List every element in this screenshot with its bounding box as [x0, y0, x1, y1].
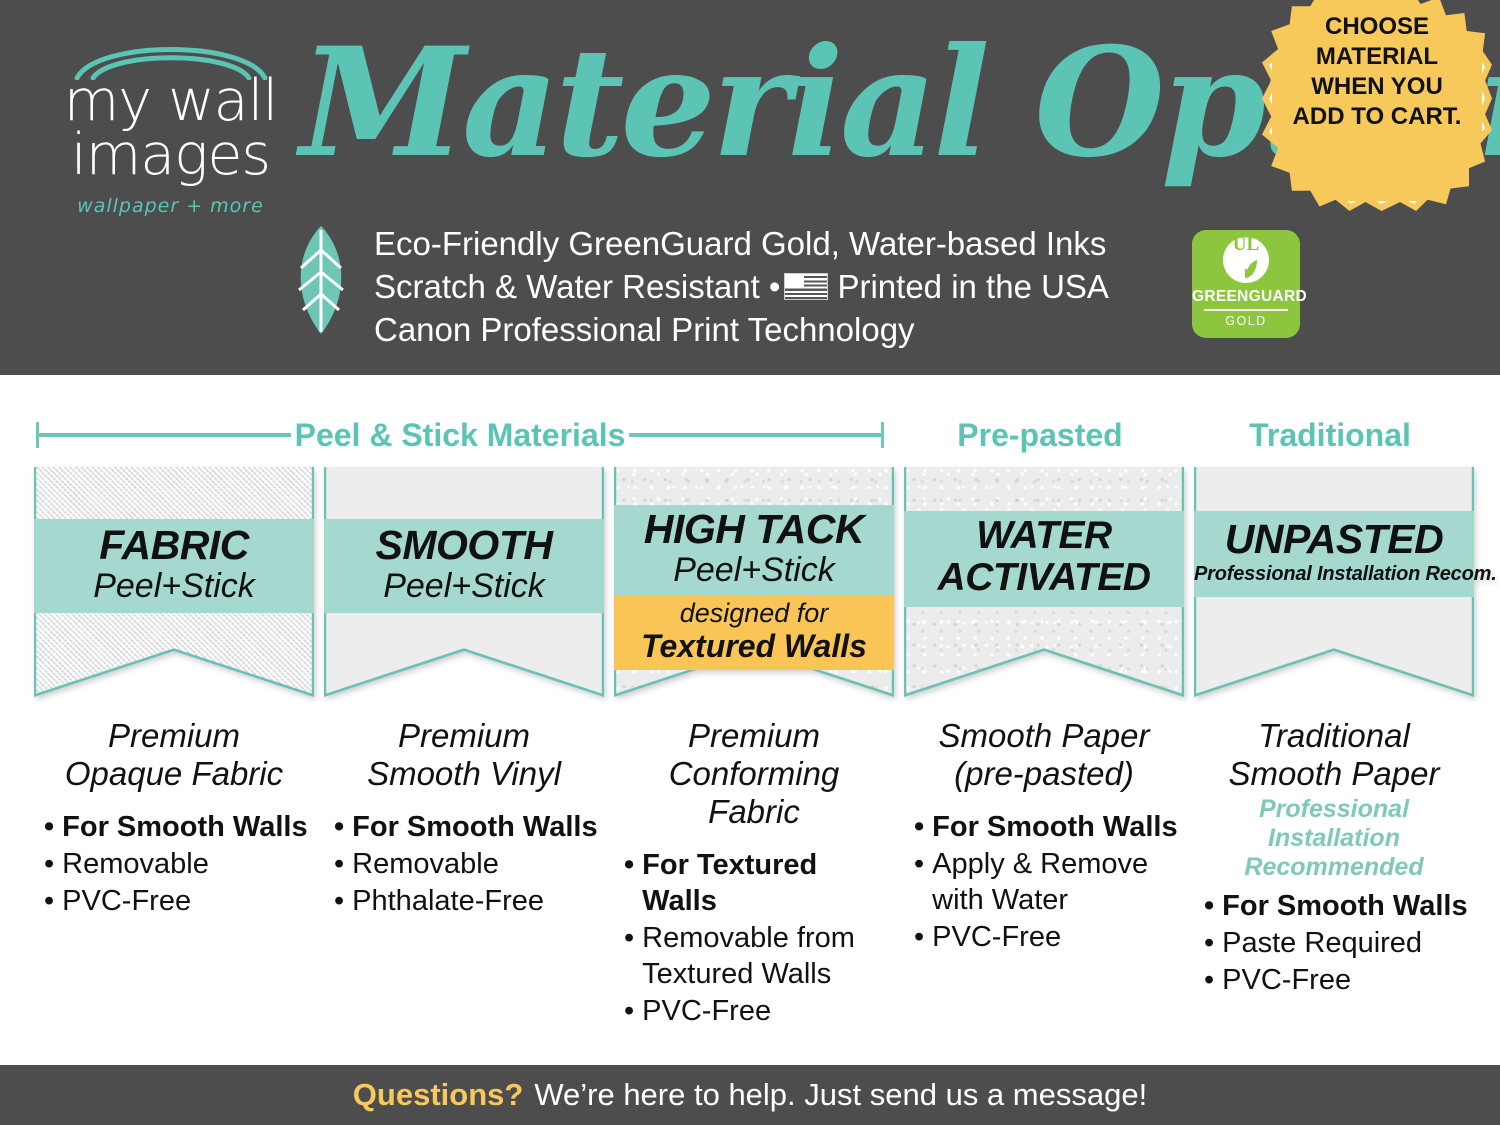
brand-logo: my wall images wallpaper + more — [38, 32, 303, 232]
bullet-item: • PVC-Free — [624, 993, 894, 1029]
card-title-smooth: SMOOTH — [324, 523, 604, 567]
brand-name-line2: images — [38, 128, 303, 182]
material-card-unpasted[interactable]: UNPASTED Professional Installation Recom… — [1194, 467, 1474, 697]
bullet-glyph: • — [624, 847, 634, 919]
bullet-item: • Paste Required — [1204, 925, 1474, 961]
bullet-text: PVC-Free — [62, 883, 314, 919]
material-description-unpasted: Traditional Smooth Paper — [1194, 717, 1474, 793]
feature-line-2: Scratch & Water Resistant • Printed in t… — [374, 265, 1109, 308]
brand-tagline: wallpaper + more — [38, 195, 303, 217]
bullet-text: Removable from Textured Walls — [642, 920, 894, 992]
group-headers: Peel & Stick Materials Pre-pasted Tradit… — [0, 413, 1500, 457]
material-card-high-tack[interactable]: HIGH TACK Peel+Stick designed for Textur… — [614, 467, 894, 697]
card-yellow-note-high-tack: designed for Textured Walls — [614, 595, 894, 670]
card-title-high-tack: HIGH TACK — [614, 507, 894, 551]
features-block: Eco-Friendly GreenGuard Gold, Water-base… — [290, 222, 1109, 351]
group-label-traditional: Traditional — [1190, 413, 1470, 457]
leaf-icon — [290, 224, 352, 341]
bullet-glyph: • — [624, 993, 634, 1029]
feature-text-1: Eco-Friendly GreenGuard Gold, Water-base… — [374, 222, 1106, 265]
bullet-item: • For Smooth Walls — [44, 809, 314, 845]
brand-name-line1: my wall — [38, 74, 303, 128]
bullet-text: For Smooth Walls — [932, 809, 1184, 845]
material-bullets-fabric: • For Smooth Walls • Removable • PVC-Fre… — [34, 809, 314, 919]
bullet-item: • For Smooth Walls — [914, 809, 1184, 845]
desc-line-2: (pre-pasted) — [904, 755, 1184, 793]
card-subtitle-fabric: Peel+Stick — [34, 567, 314, 605]
bracket-cap-right — [881, 422, 884, 448]
desc-line-2: Opaque Fabric — [34, 755, 314, 793]
material-bullets-unpasted: • For Smooth Walls • Paste Required • PV… — [1194, 888, 1474, 998]
bullet-glyph: • — [334, 809, 344, 845]
yellow-note-line-2: Textured Walls — [614, 628, 894, 664]
greenguard-name: GREENGUARD — [1192, 288, 1300, 306]
desc-line-1: Traditional — [1194, 717, 1474, 755]
bullet-glyph: • — [914, 846, 924, 918]
material-card-water-activated[interactable]: WATER ACTIVATED — [904, 467, 1184, 697]
bullet-glyph: • — [1204, 925, 1214, 961]
card-subtitle-smooth: Peel+Stick — [324, 567, 604, 605]
note-line-1: Professional Installation — [1194, 795, 1474, 853]
material-column-high-tack[interactable]: HIGH TACK Peel+Stick designed for Textur… — [614, 467, 894, 1030]
group-label-pre-pasted: Pre-pasted — [900, 413, 1180, 457]
bullet-text: PVC-Free — [1222, 962, 1474, 998]
greenguard-level: GOLD — [1192, 314, 1300, 328]
bullet-text: For Smooth Walls — [352, 809, 604, 845]
desc-line-1: Premium — [34, 717, 314, 755]
footer-message: We’re here to help. Just send us a messa… — [534, 1077, 1147, 1113]
bullet-glyph: • — [44, 809, 54, 845]
bullet-text: For Textured Walls — [642, 847, 894, 919]
bullet-glyph: • — [44, 846, 54, 882]
card-band-unpasted: UNPASTED Professional Installation Recom… — [1194, 511, 1474, 597]
card-title-fabric: FABRIC — [34, 523, 314, 567]
greenguard-leaf-icon — [1233, 255, 1259, 284]
bullet-text: Paste Required — [1222, 925, 1474, 961]
bracket-line-left — [39, 433, 291, 437]
material-column-smooth[interactable]: SMOOTH Peel+Stick Premium Smooth Vinyl •… — [324, 467, 604, 920]
bullet-item: • For Textured Walls — [624, 847, 894, 919]
bullet-text: Removable — [352, 846, 604, 882]
bullet-item: • Apply & Remove with Water — [914, 846, 1184, 918]
desc-line-1: Premium — [324, 717, 604, 755]
material-note-unpasted: Professional Installation Recommended — [1194, 795, 1474, 882]
bullet-item: • For Smooth Walls — [334, 809, 604, 845]
feature-text-2b: Printed in the USA — [837, 265, 1108, 308]
feature-text-2a: Scratch & Water Resistant • — [374, 265, 780, 308]
material-card-smooth[interactable]: SMOOTH Peel+Stick — [324, 467, 604, 697]
material-bullets-high-tack: • For Textured Walls • Removable from Te… — [614, 847, 894, 1029]
page-title: Material Options — [300, 8, 1290, 203]
desc-line-2: Smooth Vinyl — [324, 755, 604, 793]
desc-line-3: Fabric — [614, 793, 894, 831]
material-column-unpasted[interactable]: UNPASTED Professional Installation Recom… — [1194, 467, 1474, 999]
material-column-water-activated[interactable]: WATER ACTIVATED Smooth Paper (pre-pasted… — [904, 467, 1184, 956]
bullet-text: For Smooth Walls — [62, 809, 314, 845]
feature-line-1: Eco-Friendly GreenGuard Gold, Water-base… — [374, 222, 1109, 265]
bullet-glyph: • — [334, 846, 344, 882]
card-band-smooth: SMOOTH Peel+Stick — [324, 519, 604, 613]
card-band-water-activated: WATER ACTIVATED — [904, 511, 1184, 607]
feature-line-3: Canon Professional Print Technology — [374, 308, 1109, 351]
card-title-water: WATER — [904, 515, 1184, 557]
desc-line-2: Conforming — [614, 755, 894, 793]
bullet-text: Removable — [62, 846, 314, 882]
header-banner: my wall images wallpaper + more Material… — [0, 0, 1500, 375]
yellow-note-line-1: designed for — [614, 598, 894, 628]
materials-section: Peel & Stick Materials Pre-pasted Tradit… — [0, 375, 1500, 1065]
material-column-fabric[interactable]: FABRIC Peel+Stick Premium Opaque Fabric … — [34, 467, 314, 920]
bullet-glyph: • — [44, 883, 54, 919]
bullet-text: PVC-Free — [642, 993, 894, 1029]
bullet-item: • Removable from Textured Walls — [624, 920, 894, 992]
bullet-text: Apply & Remove with Water — [932, 846, 1184, 918]
material-bullets-smooth: • For Smooth Walls • Removable • Phthala… — [324, 809, 604, 919]
bullet-text: Phthalate-Free — [352, 883, 604, 919]
choose-material-badge: CHOOSE MATERIAL WHEN YOU ADD TO CART. — [1262, 0, 1492, 211]
card-title-unpasted: UNPASTED — [1194, 517, 1474, 561]
card-subtitle-high-tack: Peel+Stick — [614, 551, 894, 589]
bullet-item: • PVC-Free — [44, 883, 314, 919]
bracket-line-right — [629, 433, 881, 437]
material-card-fabric[interactable]: FABRIC Peel+Stick — [34, 467, 314, 697]
brand-name: my wall images — [38, 74, 303, 182]
bullet-item: • PVC-Free — [1204, 962, 1474, 998]
note-line-2: Recommended — [1194, 853, 1474, 882]
bullet-text: For Smooth Walls — [1222, 888, 1474, 924]
bullet-glyph: • — [334, 883, 344, 919]
bullet-glyph: • — [914, 809, 924, 845]
material-description-fabric: Premium Opaque Fabric — [34, 717, 314, 793]
bullet-glyph: • — [1204, 888, 1214, 924]
card-title-activated: ACTIVATED — [904, 557, 1184, 599]
bullet-glyph: • — [914, 919, 924, 955]
desc-line-1: Premium — [614, 717, 894, 755]
greenguard-gold-badge: UL GREENGUARD GOLD — [1192, 230, 1300, 338]
greenguard-divider — [1204, 309, 1288, 311]
material-description-smooth: Premium Smooth Vinyl — [324, 717, 604, 793]
bullet-item: • PVC-Free — [914, 919, 1184, 955]
bullet-text: PVC-Free — [932, 919, 1184, 955]
group-peel-and-stick: Peel & Stick Materials — [36, 413, 884, 457]
feature-text-3: Canon Professional Print Technology — [374, 308, 915, 351]
ul-mark: UL — [1192, 234, 1300, 256]
card-band-high-tack: HIGH TACK Peel+Stick — [614, 505, 894, 595]
badge-label: CHOOSE MATERIAL WHEN YOU ADD TO CART. — [1262, 12, 1492, 132]
material-description-high-tack: Premium Conforming Fabric — [614, 717, 894, 831]
bullet-item: • For Smooth Walls — [1204, 888, 1474, 924]
bullet-item: • Removable — [44, 846, 314, 882]
card-subtitle-unpasted: Professional Installation Recom. — [1194, 561, 1474, 587]
bullet-item: • Phthalate-Free — [334, 883, 604, 919]
material-description-water-activated: Smooth Paper (pre-pasted) — [904, 717, 1184, 793]
footer-questions-label: Questions? — [353, 1077, 524, 1113]
desc-line-1: Smooth Paper — [904, 717, 1184, 755]
usa-flag-icon — [784, 273, 828, 300]
footer-bar: Questions? We’re here to help. Just send… — [0, 1065, 1500, 1125]
bullet-glyph: • — [1204, 962, 1214, 998]
bullet-glyph: • — [624, 920, 634, 992]
group-label-peel-stick: Peel & Stick Materials — [291, 417, 630, 454]
bullet-item: • Removable — [334, 846, 604, 882]
card-band-fabric: FABRIC Peel+Stick — [34, 519, 314, 613]
desc-line-2: Smooth Paper — [1194, 755, 1474, 793]
material-bullets-water-activated: • For Smooth Walls • Apply & Remove with… — [904, 809, 1184, 955]
